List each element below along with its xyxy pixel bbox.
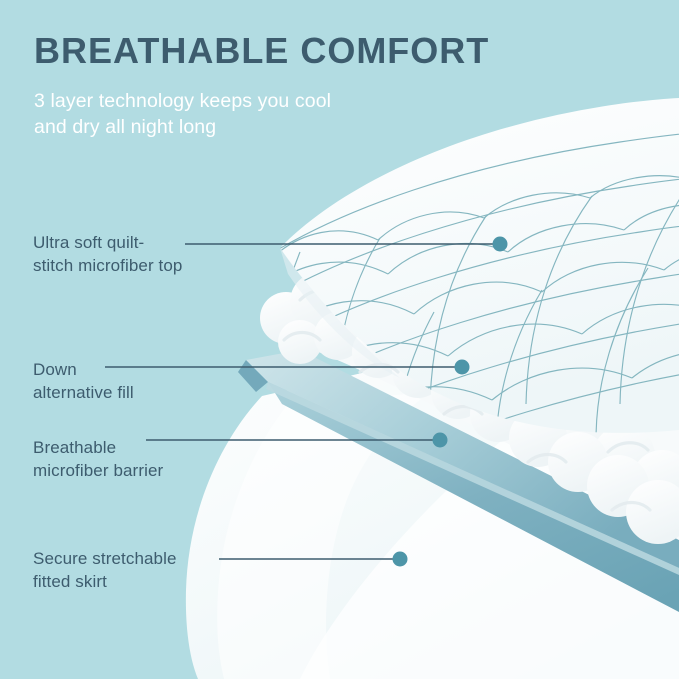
callout-label-microfiber-barrier: Breathablemicrofiber barrier	[33, 436, 163, 482]
page-title: BREATHABLE COMFORT	[34, 33, 489, 69]
callout-label-down-fill: Downalternative fill	[33, 358, 134, 404]
page-subtitle: 3 layer technology keeps you cooland dry…	[34, 89, 331, 141]
callout-label-fitted-skirt: Secure stretchablefitted skirt	[33, 547, 177, 593]
text-layer: BREATHABLE COMFORT 3 layer technology ke…	[0, 0, 679, 679]
infographic-canvas: BREATHABLE COMFORT 3 layer technology ke…	[0, 0, 679, 679]
callout-label-quilt-top: Ultra soft quilt-stitch microfiber top	[33, 231, 182, 277]
